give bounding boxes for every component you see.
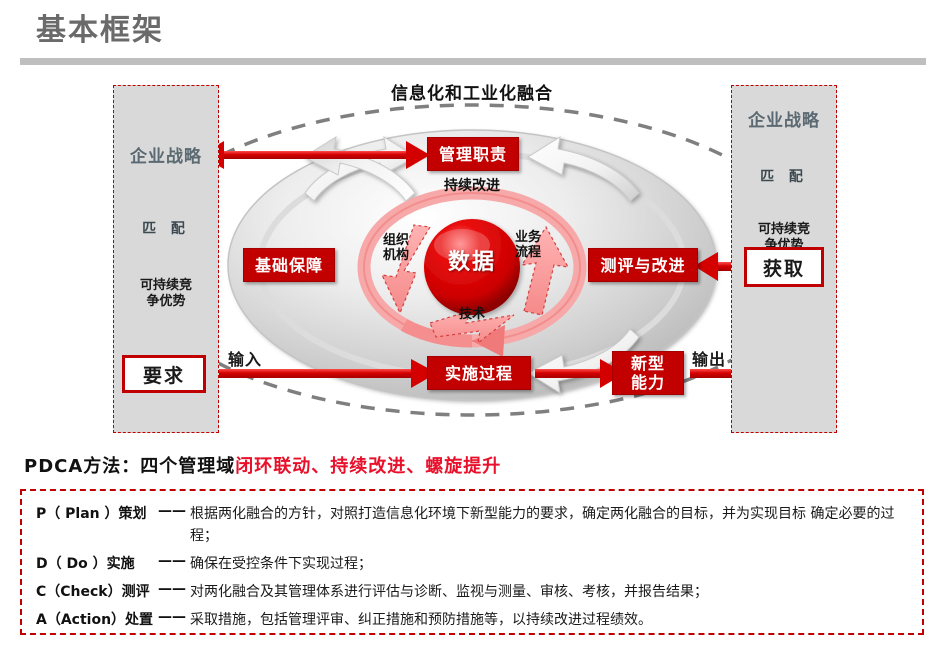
basic-guarantee-box[interactable]: 基础保障 (243, 248, 335, 282)
output-label: 输出 (692, 346, 726, 370)
pdca-heading: PDCA方法：四个管理域闭环联动、持续改进、螺旋提升 (24, 452, 501, 478)
new-capability-box[interactable]: 新型 能力 (612, 351, 684, 395)
pdca-key-do: D（ Do ）实施 (36, 553, 154, 573)
management-responsibility-box[interactable]: 管理职责 (427, 137, 519, 171)
requirement-box[interactable]: 要求 (122, 355, 206, 393)
organization-line2: 机构 (372, 248, 420, 263)
left-panel-advantage-label: 可持续竞 争优势 (114, 278, 218, 310)
organization-line1: 组织 (372, 233, 420, 248)
technology-label: 技术 (444, 307, 500, 322)
left-panel-strategy-label: 企业战略 (114, 142, 218, 167)
framework-diagram: 信息化和工业化融合 (0, 75, 944, 445)
pdca-row-action: A（Action）处置 —— 采取措施，包括管理评审、纠正措施和预防措施等，以持… (36, 609, 908, 631)
pdca-description-box: P（ Plan ）策划 —— 根据两化融合的方针，对照打造信息化环境下新型能力的… (20, 489, 924, 635)
pdca-dash-plan: —— (154, 503, 190, 519)
pdca-heading-black: PDCA方法：四个管理域 (24, 456, 235, 477)
right-panel-advantage-line1: 可持续竞 (732, 222, 836, 238)
pdca-key-action: A（Action）处置 (36, 609, 154, 629)
pdca-text-check: 对两化融合及其管理体系进行评估与诊断、监视与测量、审核、考核，并报告结果； (190, 581, 908, 603)
left-panel-match-label: 匹 配 (114, 218, 218, 238)
new-capability-line1: 新型 (631, 354, 665, 373)
input-label: 输入 (228, 346, 262, 370)
new-capability-line2: 能力 (631, 373, 665, 392)
pdca-dash-check: —— (154, 581, 190, 597)
title-divider (20, 58, 926, 65)
pdca-dash-action: —— (154, 609, 190, 625)
implementation-process-box[interactable]: 实施过程 (427, 356, 531, 390)
pdca-heading-red: 闭环联动、持续改进、螺旋提升 (235, 456, 501, 477)
data-core-label: 数据 (422, 255, 522, 270)
organization-label: 组织 机构 (372, 233, 420, 263)
business-process-line1: 业务 (504, 230, 552, 245)
pdca-dash-do: —— (154, 553, 190, 569)
pdca-text-do: 确保在受控条件下实现过程； (190, 553, 908, 575)
left-panel-advantage-line1: 可持续竞 (114, 278, 218, 294)
evaluation-improvement-box[interactable]: 测评与改进 (588, 248, 698, 282)
pdca-key-check: C（Check）测评 (36, 581, 154, 601)
pdca-row-plan: P（ Plan ）策划 —— 根据两化融合的方针，对照打造信息化环境下新型能力的… (36, 503, 908, 547)
page-title: 基本框架 (36, 12, 164, 50)
right-panel-match-label: 匹 配 (732, 166, 836, 186)
pdca-text-action: 采取措施，包括管理评审、纠正措施和预防措施等，以持续改进过程绩效。 (190, 609, 908, 631)
pdca-row-check: C（Check）测评 —— 对两化融合及其管理体系进行评估与诊断、监视与测量、审… (36, 581, 908, 603)
pdca-text-plan: 根据两化融合的方针，对照打造信息化环境下新型能力的要求，确定两化融合的目标，并为… (190, 503, 908, 547)
right-panel-strategy-label: 企业战略 (732, 106, 836, 131)
left-panel-advantage-line2: 争优势 (114, 294, 218, 310)
acquire-box[interactable]: 获取 (744, 247, 824, 287)
pdca-key-plan: P（ Plan ）策划 (36, 503, 154, 523)
pdca-row-do: D（ Do ）实施 —— 确保在受控条件下实现过程； (36, 553, 908, 575)
continuous-improvement-label: 持续改进 (422, 179, 522, 194)
